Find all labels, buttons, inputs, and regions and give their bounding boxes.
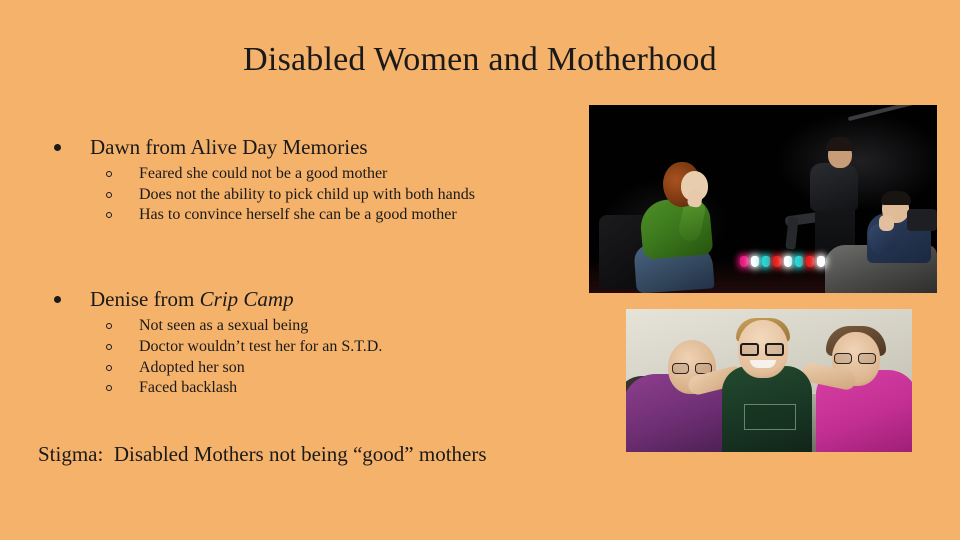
hollow-bullet-icon xyxy=(106,365,112,371)
family-photo xyxy=(626,309,912,452)
sub-bullet-text: Doctor wouldn’t test her for an S.T.D. xyxy=(139,338,382,355)
video-camera xyxy=(907,209,937,231)
center-man-smile xyxy=(750,360,776,368)
footlight xyxy=(784,256,792,267)
sub-bullet-text: Adopted her son xyxy=(139,359,245,376)
hollow-bullet-icon xyxy=(106,323,112,329)
shirt-graphic xyxy=(744,404,796,430)
man-hair xyxy=(881,191,911,205)
stage-interview-photo xyxy=(589,105,937,293)
hollow-bullet-icon xyxy=(106,344,112,350)
filled-bullet-icon xyxy=(54,296,61,303)
man-hand xyxy=(879,215,894,231)
footlight xyxy=(806,256,814,267)
hollow-bullet-icon xyxy=(106,171,112,177)
slide-body-content: Dawn from Alive Day Memories Feared she … xyxy=(40,132,585,399)
footlight xyxy=(762,256,770,267)
sub-bullet-text: Does not the ability to pick child up wi… xyxy=(139,186,475,203)
presentation-slide: Disabled Women and Motherhood Dawn from … xyxy=(0,0,960,540)
filled-bullet-icon xyxy=(54,144,61,151)
slide-title: Disabled Women and Motherhood xyxy=(0,38,960,82)
bullet-heading-title-italic: Crip Camp xyxy=(200,287,294,311)
sub-bullet-item: Faced backlash xyxy=(40,378,585,398)
sub-bullet-item: Not seen as a sexual being xyxy=(40,316,585,336)
bullet-group-spacer xyxy=(40,226,585,284)
stigma-statement: Stigma: Disabled Mothers not being “good… xyxy=(38,440,487,468)
center-man-glasses-icon xyxy=(740,343,786,356)
hollow-bullet-icon xyxy=(106,192,112,198)
crew-torso xyxy=(810,163,858,211)
bullet-group-denise: Denise from Crip Camp Not seen as a sexu… xyxy=(40,284,585,398)
bullet-heading-text: Dawn from Alive Day Memories xyxy=(90,135,368,159)
sub-bullet-text: Faced backlash xyxy=(139,379,237,396)
sub-bullet-text: Feared she could not be a good mother xyxy=(139,165,387,182)
sub-bullet-item: Has to convince herself she can be a goo… xyxy=(40,205,585,225)
sub-bullet-item: Adopted her son xyxy=(40,358,585,378)
footlight xyxy=(773,256,781,267)
stage-footlights xyxy=(740,256,825,267)
footlight xyxy=(817,256,825,267)
woman-hand xyxy=(687,189,703,208)
sub-bullet-item: Doctor wouldn’t test her for an S.T.D. xyxy=(40,337,585,357)
bullet-heading-dawn: Dawn from Alive Day Memories xyxy=(40,132,585,162)
sub-bullet-item: Does not the ability to pick child up wi… xyxy=(40,185,585,205)
crew-hair xyxy=(826,137,854,151)
footlight xyxy=(751,256,759,267)
right-woman-glasses-icon xyxy=(834,353,878,364)
sub-bullet-text: Has to convince herself she can be a goo… xyxy=(139,206,457,223)
footlight xyxy=(795,256,803,267)
footlight xyxy=(740,256,748,267)
bullet-heading-text: Denise from xyxy=(90,287,200,311)
bullet-group-dawn: Dawn from Alive Day Memories Feared she … xyxy=(40,132,585,226)
sub-bullet-item: Feared she could not be a good mother xyxy=(40,164,585,184)
hollow-bullet-icon xyxy=(106,212,112,218)
bullet-heading-denise: Denise from Crip Camp xyxy=(40,284,585,314)
sub-bullet-text: Not seen as a sexual being xyxy=(139,317,308,334)
hollow-bullet-icon xyxy=(106,385,112,391)
